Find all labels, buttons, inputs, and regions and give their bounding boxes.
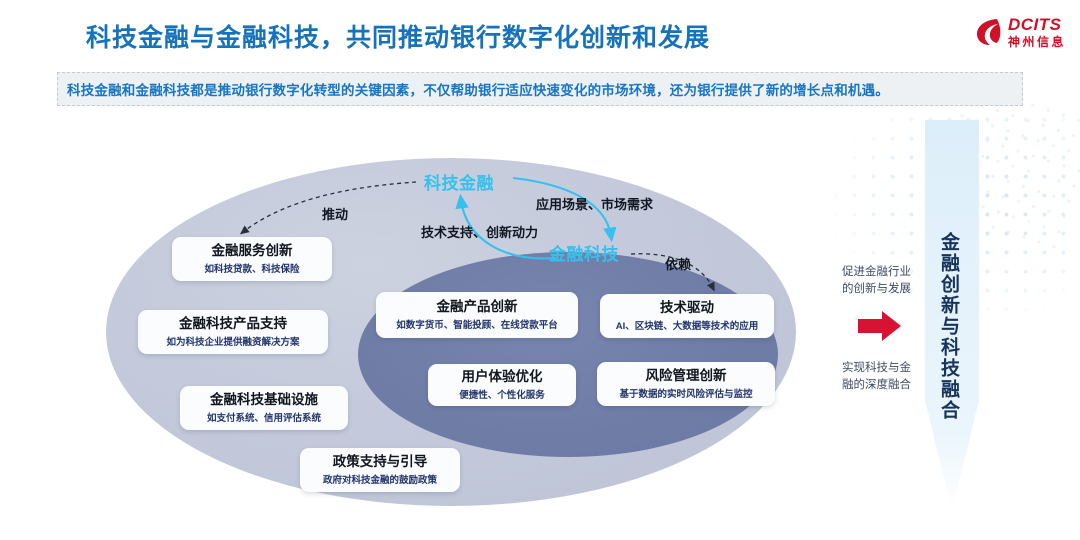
card-technology-driven[interactable]: 技术驱动 AI、区块链、大数据等技术的应用 <box>600 294 774 338</box>
card-fintech-product-support[interactable]: 金融科技产品支持 如为科技企业提供融资解决方案 <box>138 310 328 354</box>
card-risk-management-innovation[interactable]: 风险管理创新 基于数据的实时风险评估与监控 <box>597 362 775 406</box>
node-label-tech-finance: 科技金融 <box>424 169 494 194</box>
subtitle-text: 科技金融和金融科技都是推动银行数字化转型的关键因素，不仅帮助银行适应快速变化的市… <box>58 79 889 99</box>
brand-logo: DCITS 神州信息 <box>976 16 1066 48</box>
relation-label-depend: 依赖 <box>665 254 691 273</box>
card-title: 金融科技产品支持 <box>179 316 287 332</box>
side-note-bottom-line1: 实现科技与金 <box>842 360 911 377</box>
card-user-experience-optimization[interactable]: 用户体验优化 便捷性、个性化服务 <box>428 364 576 406</box>
card-title: 金融服务创新 <box>212 243 293 259</box>
side-note-bottom: 实现科技与金 融的深度融合 <box>842 360 911 393</box>
card-subtitle: 如为科技企业提供融资解决方案 <box>166 334 299 348</box>
card-financial-service-innovation[interactable]: 金融服务创新 如科技贷款、科技保险 <box>172 237 332 281</box>
card-financial-product-innovation[interactable]: 金融产品创新 如数字货币、智能投顾、在线贷款平台 <box>376 292 578 338</box>
card-subtitle: 便捷性、个性化服务 <box>459 387 545 401</box>
card-title: 技术驱动 <box>660 300 714 316</box>
dcits-swoosh-icon <box>976 17 1002 47</box>
card-fintech-infrastructure[interactable]: 金融科技基础设施 如支付系统、信用评估系统 <box>180 386 348 430</box>
subtitle-banner: 科技金融和金融科技都是推动银行数字化转型的关键因素，不仅帮助银行适应快速变化的市… <box>57 72 1023 106</box>
card-subtitle: 如科技贷款、科技保险 <box>204 261 299 275</box>
logo-text-cn: 神州信息 <box>1008 36 1066 48</box>
side-note-top-line2: 的创新与发展 <box>842 281 911 298</box>
vertical-headline: 金融创新与科技融合 <box>938 232 958 421</box>
node-label-fintech: 金融科技 <box>549 240 619 265</box>
relation-label-push: 推动 <box>322 204 348 223</box>
side-note-top-line1: 促进金融行业 <box>842 264 911 281</box>
page-title: 科技金融与金融科技，共同推动银行数字化创新和发展 <box>86 18 710 54</box>
card-policy-support[interactable]: 政策支持与引导 政府对科技金融的鼓励政策 <box>300 448 460 492</box>
card-subtitle: 如支付系统、信用评估系统 <box>207 410 321 424</box>
card-subtitle: 政府对科技金融的鼓励政策 <box>323 472 437 486</box>
card-title: 风险管理创新 <box>646 368 727 384</box>
halftone-dot-pattern-icon <box>750 110 1080 340</box>
card-title: 金融产品创新 <box>437 299 518 315</box>
slide-canvas: 科技金融与金融科技，共同推动银行数字化创新和发展 科技金融和金融科技都是推动银行… <box>0 0 1080 540</box>
card-title: 用户体验优化 <box>462 369 543 385</box>
logo-text-en: DCITS <box>1008 16 1066 33</box>
card-subtitle: 基于数据的实时风险评估与监控 <box>619 386 752 400</box>
relation-label-scene-demand: 应用场景、市场需求 <box>536 194 653 213</box>
card-subtitle: 如数字货币、智能投顾、在线贷款平台 <box>396 317 558 331</box>
card-title: 金融科技基础设施 <box>210 392 318 408</box>
card-subtitle: AI、区块链、大数据等技术的应用 <box>616 318 759 332</box>
inner-ellipse-fintech <box>358 252 778 457</box>
side-note-top: 促进金融行业 的创新与发展 <box>842 264 911 297</box>
card-title: 政策支持与引导 <box>333 454 428 470</box>
relation-label-tech-support: 技术支持、创新动力 <box>421 222 538 241</box>
red-right-arrow-icon <box>858 310 902 342</box>
side-note-bottom-line2: 融的深度融合 <box>842 377 911 394</box>
